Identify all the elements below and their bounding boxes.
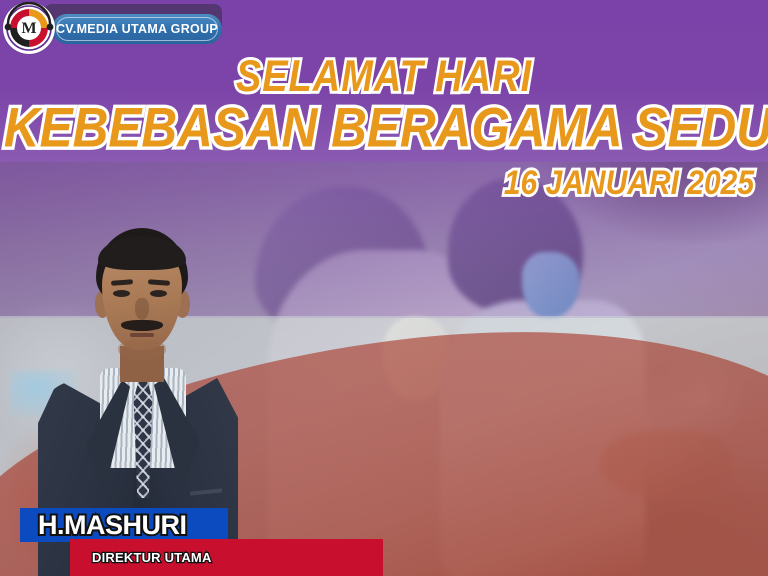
company-badge-label: CV.MEDIA UTAMA GROUP — [56, 22, 218, 36]
event-date: 16 JANUARI 2025 — [504, 164, 754, 203]
greeting-poster: CV.MEDIA UTAMA GROUP M SELAMAT HARI KEBE… — [0, 0, 768, 576]
person-title: DIREKTUR UTAMA — [92, 550, 212, 565]
person-name: H.MASHURI — [38, 510, 187, 541]
headline-line-two: KEBEBASAN BERAGAMA SEDUNIA — [4, 95, 764, 160]
person-name-banner: H.MASHURI — [20, 508, 228, 542]
person-title-banner: DIREKTUR UTAMA — [70, 539, 383, 576]
portrait-mouth — [130, 333, 154, 337]
media-utama-group-logo: M — [3, 2, 55, 54]
portrait-eye-right — [150, 290, 167, 297]
svg-text:M: M — [21, 20, 36, 37]
portrait-mustache — [121, 320, 163, 331]
company-badge: CV.MEDIA UTAMA GROUP — [52, 14, 222, 44]
portrait-chin — [118, 340, 166, 360]
portrait-eye-left — [113, 290, 130, 297]
portrait-nose — [135, 298, 149, 320]
